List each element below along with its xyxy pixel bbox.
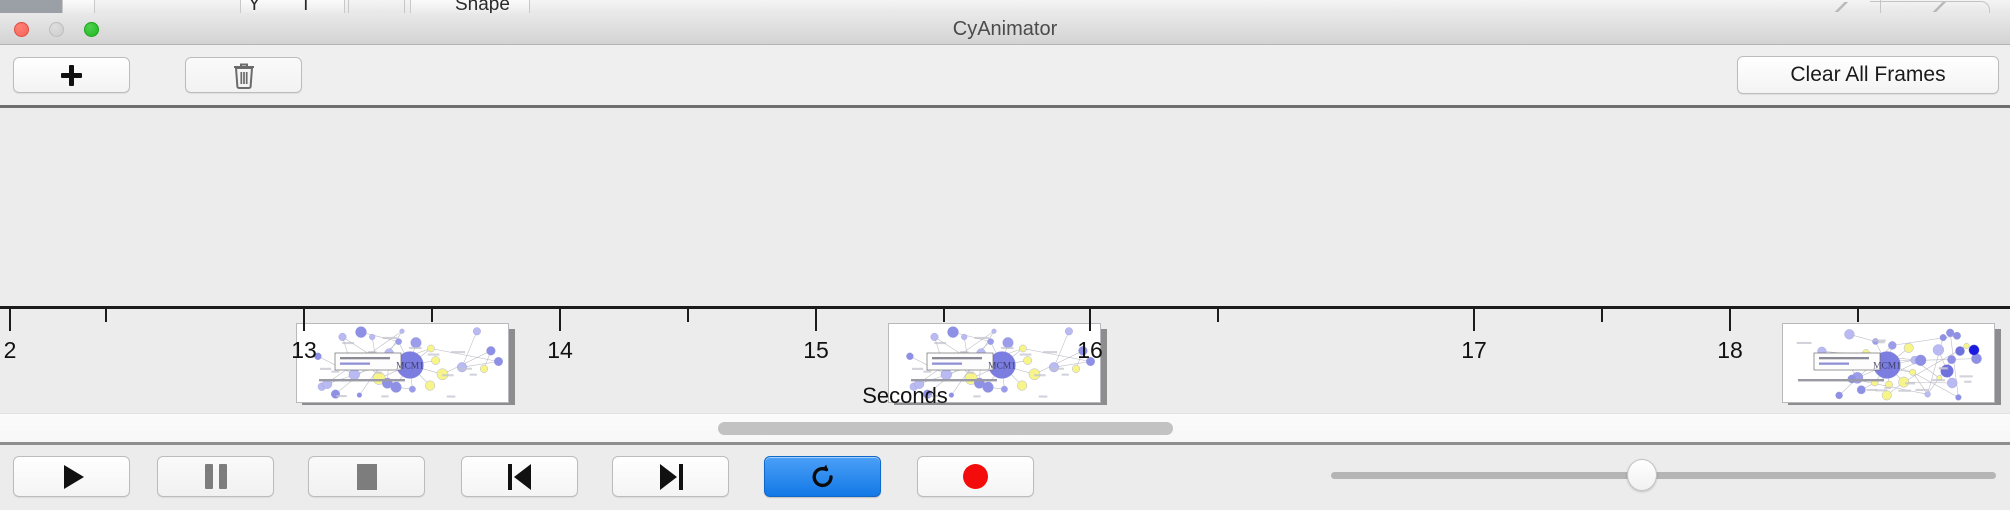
axis-tick	[1217, 309, 1219, 322]
cyanimator-window: Y T Shape CyAnimator Clear All Frames	[0, 0, 2010, 510]
axis-tick	[1601, 309, 1603, 322]
axis-tick	[1473, 309, 1475, 331]
axis-tick-label: 17	[1461, 337, 1487, 364]
axis-tick-label: 14	[547, 337, 573, 364]
loop-icon	[809, 463, 837, 491]
play-icon	[64, 465, 84, 489]
timeline-hscrollbar-thumb[interactable]	[718, 422, 1173, 435]
background-window-strip: Y T Shape	[0, 0, 2010, 13]
timeline-axis-line	[0, 306, 2010, 309]
axis-tick-label: 16	[1077, 337, 1103, 364]
skip-next-button[interactable]	[612, 456, 729, 497]
toolbar: Clear All Frames	[0, 45, 2010, 107]
trash-icon	[232, 62, 256, 89]
record-icon	[963, 464, 988, 489]
axis-tick-label: 2	[4, 337, 17, 364]
play-button[interactable]	[13, 456, 130, 497]
axis-tick	[105, 309, 107, 322]
axis-tick-label: 18	[1717, 337, 1743, 364]
skip-previous-button[interactable]	[461, 456, 578, 497]
skip-next-icon	[659, 464, 683, 490]
clear-all-frames-button[interactable]: Clear All Frames	[1737, 56, 1999, 94]
axis-tick	[687, 309, 689, 322]
axis-tick	[559, 309, 561, 331]
axis-caption: Seconds	[0, 383, 2010, 409]
background-window-label: Shape	[455, 0, 510, 13]
axis-tick	[943, 309, 945, 322]
svg-text:MCM1: MCM1	[1873, 362, 1901, 372]
pause-button[interactable]	[157, 456, 274, 497]
axis-tick-label: 13	[291, 337, 317, 364]
axis-tick	[431, 309, 433, 322]
titlebar: CyAnimator	[0, 13, 2010, 45]
animation-speed-slider-track[interactable]	[1331, 472, 1996, 479]
page-title: CyAnimator	[0, 13, 2010, 45]
axis-tick	[1857, 309, 1859, 322]
skip-previous-icon	[508, 464, 532, 490]
delete-frame-button[interactable]	[185, 57, 302, 93]
record-button[interactable]	[917, 456, 1034, 497]
stop-icon	[357, 464, 377, 490]
axis-tick	[303, 309, 305, 331]
axis-tick	[1089, 309, 1091, 331]
add-frame-button[interactable]	[13, 57, 130, 93]
svg-text:MCM1: MCM1	[988, 362, 1016, 372]
stop-button[interactable]	[308, 456, 425, 497]
axis-tick	[9, 309, 11, 331]
plus-icon	[61, 65, 82, 86]
pause-icon	[205, 464, 227, 489]
timeline-hscrollbar[interactable]	[0, 413, 2010, 442]
loop-button[interactable]	[764, 456, 881, 497]
axis-tick-label: 15	[803, 337, 829, 364]
axis-tick	[1729, 309, 1731, 331]
svg-text:MCM1: MCM1	[396, 362, 424, 372]
animation-speed-slider-thumb[interactable]	[1627, 459, 1657, 491]
axis-tick	[815, 309, 817, 331]
